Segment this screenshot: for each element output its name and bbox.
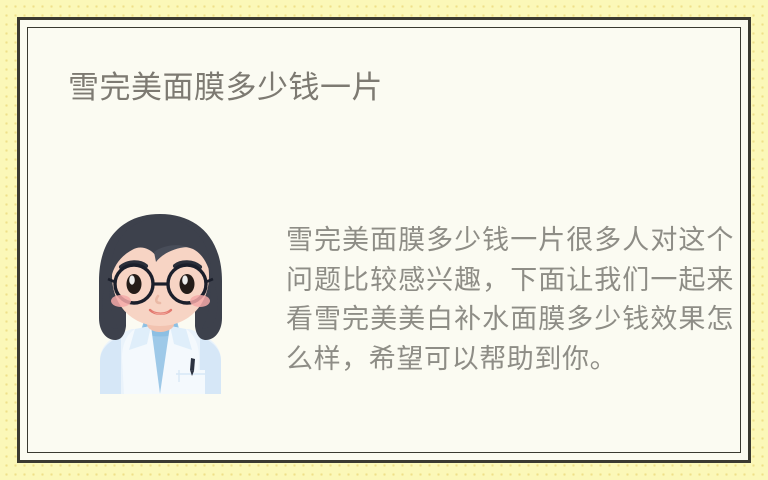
inner-frame-border: 雪完美面膜多少钱一片: [27, 27, 741, 453]
page-root: 雪完美面膜多少钱一片: [0, 0, 768, 480]
article-card: 雪完美面膜多少钱一片: [28, 28, 740, 452]
page-title: 雪完美面膜多少钱一片: [68, 68, 668, 108]
female-doctor-avatar: [88, 208, 233, 394]
article-content-row: 雪完美面膜多少钱一片很多人对这个问题比较感兴趣，下面让我们一起来看雪完美美白补水…: [28, 193, 740, 443]
article-body-text: 雪完美面膜多少钱一片很多人对这个问题比较感兴趣，下面让我们一起来看雪完美美白补水…: [286, 221, 734, 379]
outer-frame-border: 雪完美面膜多少钱一片: [17, 17, 751, 463]
chest-pocket-shape: [176, 370, 205, 394]
